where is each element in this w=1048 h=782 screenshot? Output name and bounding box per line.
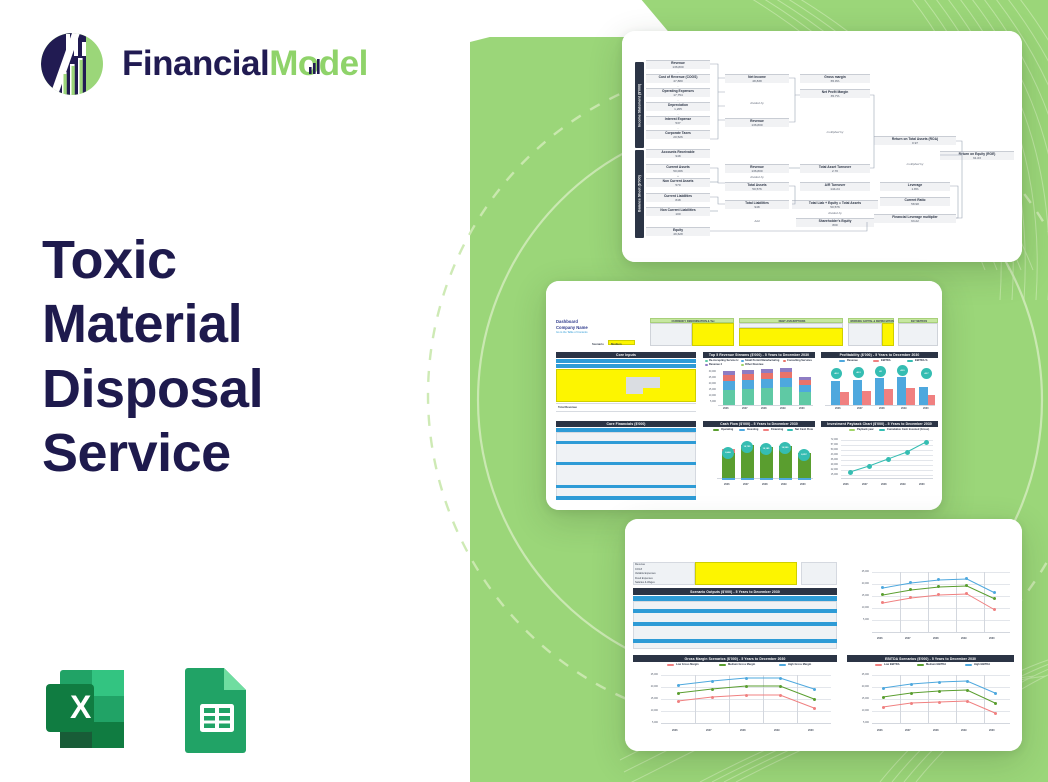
currency-labels	[650, 323, 692, 346]
wc-values[interactable]	[882, 323, 894, 346]
dashboard-company-name: Company Name	[556, 325, 588, 330]
core-inputs-header: Core Inputs	[556, 352, 696, 358]
scenario-active-values	[801, 562, 837, 585]
node-roa: Return on Total Assets (ROA)0.97	[874, 136, 956, 145]
node-revenue-2: Revenue136,800	[725, 118, 789, 127]
node-current-liabilities: Current Liabilities848	[646, 193, 710, 202]
row-highlight-gross-margin	[633, 609, 837, 613]
screenshot-card-dashboard[interactable]: Dashboard Company Name Go to the Table o…	[546, 281, 942, 510]
node-non-current-assets: Non Current Assets570	[646, 178, 710, 187]
debt-rows[interactable]	[739, 328, 843, 346]
ebitda-chart: Low EBITDA Medium EBITDA High EBITDA	[847, 663, 1014, 743]
node-leverage: Leverage1.8%	[880, 182, 950, 191]
ebitda-chart-title: EBITDA Scenarios ($'000) - 5 Years to De…	[847, 655, 1014, 662]
core-inputs-total-label: Total Revenue	[558, 405, 577, 409]
brand-logo: FinancialModel	[36, 28, 368, 100]
node-revenue-3: Revenue136,800	[725, 164, 789, 173]
node-interest-expense: Interest Expense537	[646, 116, 710, 125]
node-net-income: Net Income48,838	[725, 74, 789, 83]
operator-add: Add	[725, 219, 789, 223]
node-net-profit-margin: Net Profit Margin35.7%	[800, 89, 870, 98]
brand-name-part1: Financial	[122, 44, 269, 83]
google-sheets-icon	[166, 662, 260, 756]
row-highlight-total	[556, 496, 696, 500]
node-non-current-liabilities: Non Current Liabilities100	[646, 207, 710, 216]
node-accounts-receivable: Accounts Receivable948	[646, 149, 710, 158]
dashboard-toc-link[interactable]: Go to the Table of Contents	[556, 331, 588, 334]
profitability-chart: Revenue EBITDA EBITDA % 40.2 40.3 42 42.…	[821, 359, 938, 412]
operator-divided-by-3: divided by	[800, 211, 870, 215]
brand-wordmark: FinancialModel	[122, 44, 368, 84]
payback-chart: Payback year Cumulative Cash Invested (G…	[821, 428, 938, 500]
scenario-outputs-title: Scenario Outputs ($'000) - 5 Years to De…	[633, 588, 837, 595]
headline-line-3: Disposal	[42, 357, 263, 421]
microsoft-excel-icon: X	[38, 662, 132, 756]
operator-divided-by-2: divided by	[725, 175, 789, 179]
node-financial-leverage-multiplier: Financial Leverage multiplier63.22	[874, 214, 956, 223]
row-highlight-ebitda	[556, 462, 696, 465]
dashboard-title: Dashboard	[556, 319, 578, 324]
headline-line-4: Service	[42, 421, 263, 485]
node-corporate-taxes: Corporate Taxes20,526	[646, 130, 710, 139]
node-total-liabilities: Total Liabilities948	[725, 200, 789, 209]
node-total-liab-equity: Total Liab + Equity = Total Assets50,576	[792, 200, 878, 209]
node-total-asset-turnover: Total Asset Turnover2.70	[800, 164, 870, 173]
row-highlight-gross-margin	[556, 441, 696, 444]
operator-multiplied-by-1: multiplied by	[800, 130, 870, 134]
core-inputs-colheader	[556, 359, 696, 363]
svg-text:X: X	[70, 689, 92, 725]
node-revenue: Revenue136,800	[646, 60, 710, 69]
node-roe: Return on Equity (ROE)61.03	[940, 151, 1014, 160]
core-inputs-blank-cells-2	[626, 388, 643, 394]
section-label-balance-sheet: Balance Sheet ($'000)	[635, 150, 644, 238]
node-total-assets: Total Assets50,576	[725, 182, 789, 191]
profitability-chart-title: Profitability ($'000) - 5 Years to Decem…	[821, 352, 938, 358]
row-highlight-npat	[556, 485, 696, 488]
node-equity: Equity49,628	[646, 227, 710, 236]
currency-values[interactable]	[692, 323, 734, 346]
node-cogs: Cost of Revenue (COGS)47,880	[646, 74, 710, 83]
node-gross-margin: Gross margin65.0%	[800, 74, 870, 83]
headline-line-1: Toxic	[42, 228, 263, 292]
core-financials-header: Core Financials ($'000)	[556, 421, 696, 427]
screenshot-card-scenarios[interactable]: Revenue COGS Variable Expenses Fixed Exp…	[625, 519, 1022, 751]
node-ar-turnover: A/R Turnover144.24	[800, 182, 870, 191]
scenario-assumption-values[interactable]	[695, 562, 797, 585]
node-shareholders-equity: Shareholder's Equity800	[796, 218, 874, 227]
revenue-streams-chart-title: Top 5 Revenue Streams ($'000) - 5 Years …	[703, 352, 815, 358]
bar-chart-icon	[308, 58, 322, 74]
node-current-ratio: Current Ratio58.98	[880, 197, 950, 206]
core-inputs-subheader	[556, 364, 696, 368]
gross-margin-chart: Low Gross Margin Medium Gross Margin Hig…	[633, 663, 837, 743]
payback-chart-title: Investment Payback Chart ($'000) - 5 Yea…	[821, 421, 938, 427]
revenue-streams-chart: Re-Accepting Service Ic Small Permit Man…	[703, 359, 815, 412]
headline-line-2: Material	[42, 292, 263, 356]
cashflow-chart: Operating Investing Financing Net Cash F…	[703, 428, 815, 500]
scenario-label: Scenario	[592, 342, 604, 346]
key-metrics-table	[898, 323, 938, 346]
row-highlight-contribution-margin	[633, 622, 837, 626]
node-operating-expenses: Operating Expenses17,754	[646, 88, 710, 97]
scenario-select[interactable]: Medium	[608, 340, 635, 345]
gross-margin-chart-title: Gross Margin Scenarios ($'000) - 5 Years…	[633, 655, 837, 662]
screenshot-card-dupont-analysis[interactable]: Income Statement ($'000) Balance Sheet (…	[622, 31, 1022, 262]
row-highlight-ebitda	[633, 639, 837, 643]
section-label-income-statement: Income Statement ($'000)	[635, 62, 644, 148]
node-current-assets: Current Assets50,006	[646, 164, 710, 173]
format-icons: X	[38, 662, 260, 756]
core-inputs-blank-cells	[626, 377, 660, 388]
cashflow-chart-title: Cash Flow ($'000) - 5 Years to December …	[703, 421, 815, 427]
scenario-summary-chart: 25,000 20,000 15,000 10,000 5,000 2026 2…	[847, 562, 1014, 649]
scenario-outputs-colheader	[633, 596, 837, 601]
page-title: Toxic Material Disposal Service	[42, 228, 263, 485]
operator-divided-by-1: divided by	[725, 101, 789, 105]
wc-labels	[848, 323, 882, 346]
operator-multiplied-by-2: multiplied by	[874, 162, 956, 166]
node-depreciation: Depreciation1,265	[646, 102, 710, 111]
left-content-panel: FinancialModel Toxic Material Disposal S…	[0, 0, 470, 782]
circular-chart-logo-icon	[36, 28, 108, 100]
